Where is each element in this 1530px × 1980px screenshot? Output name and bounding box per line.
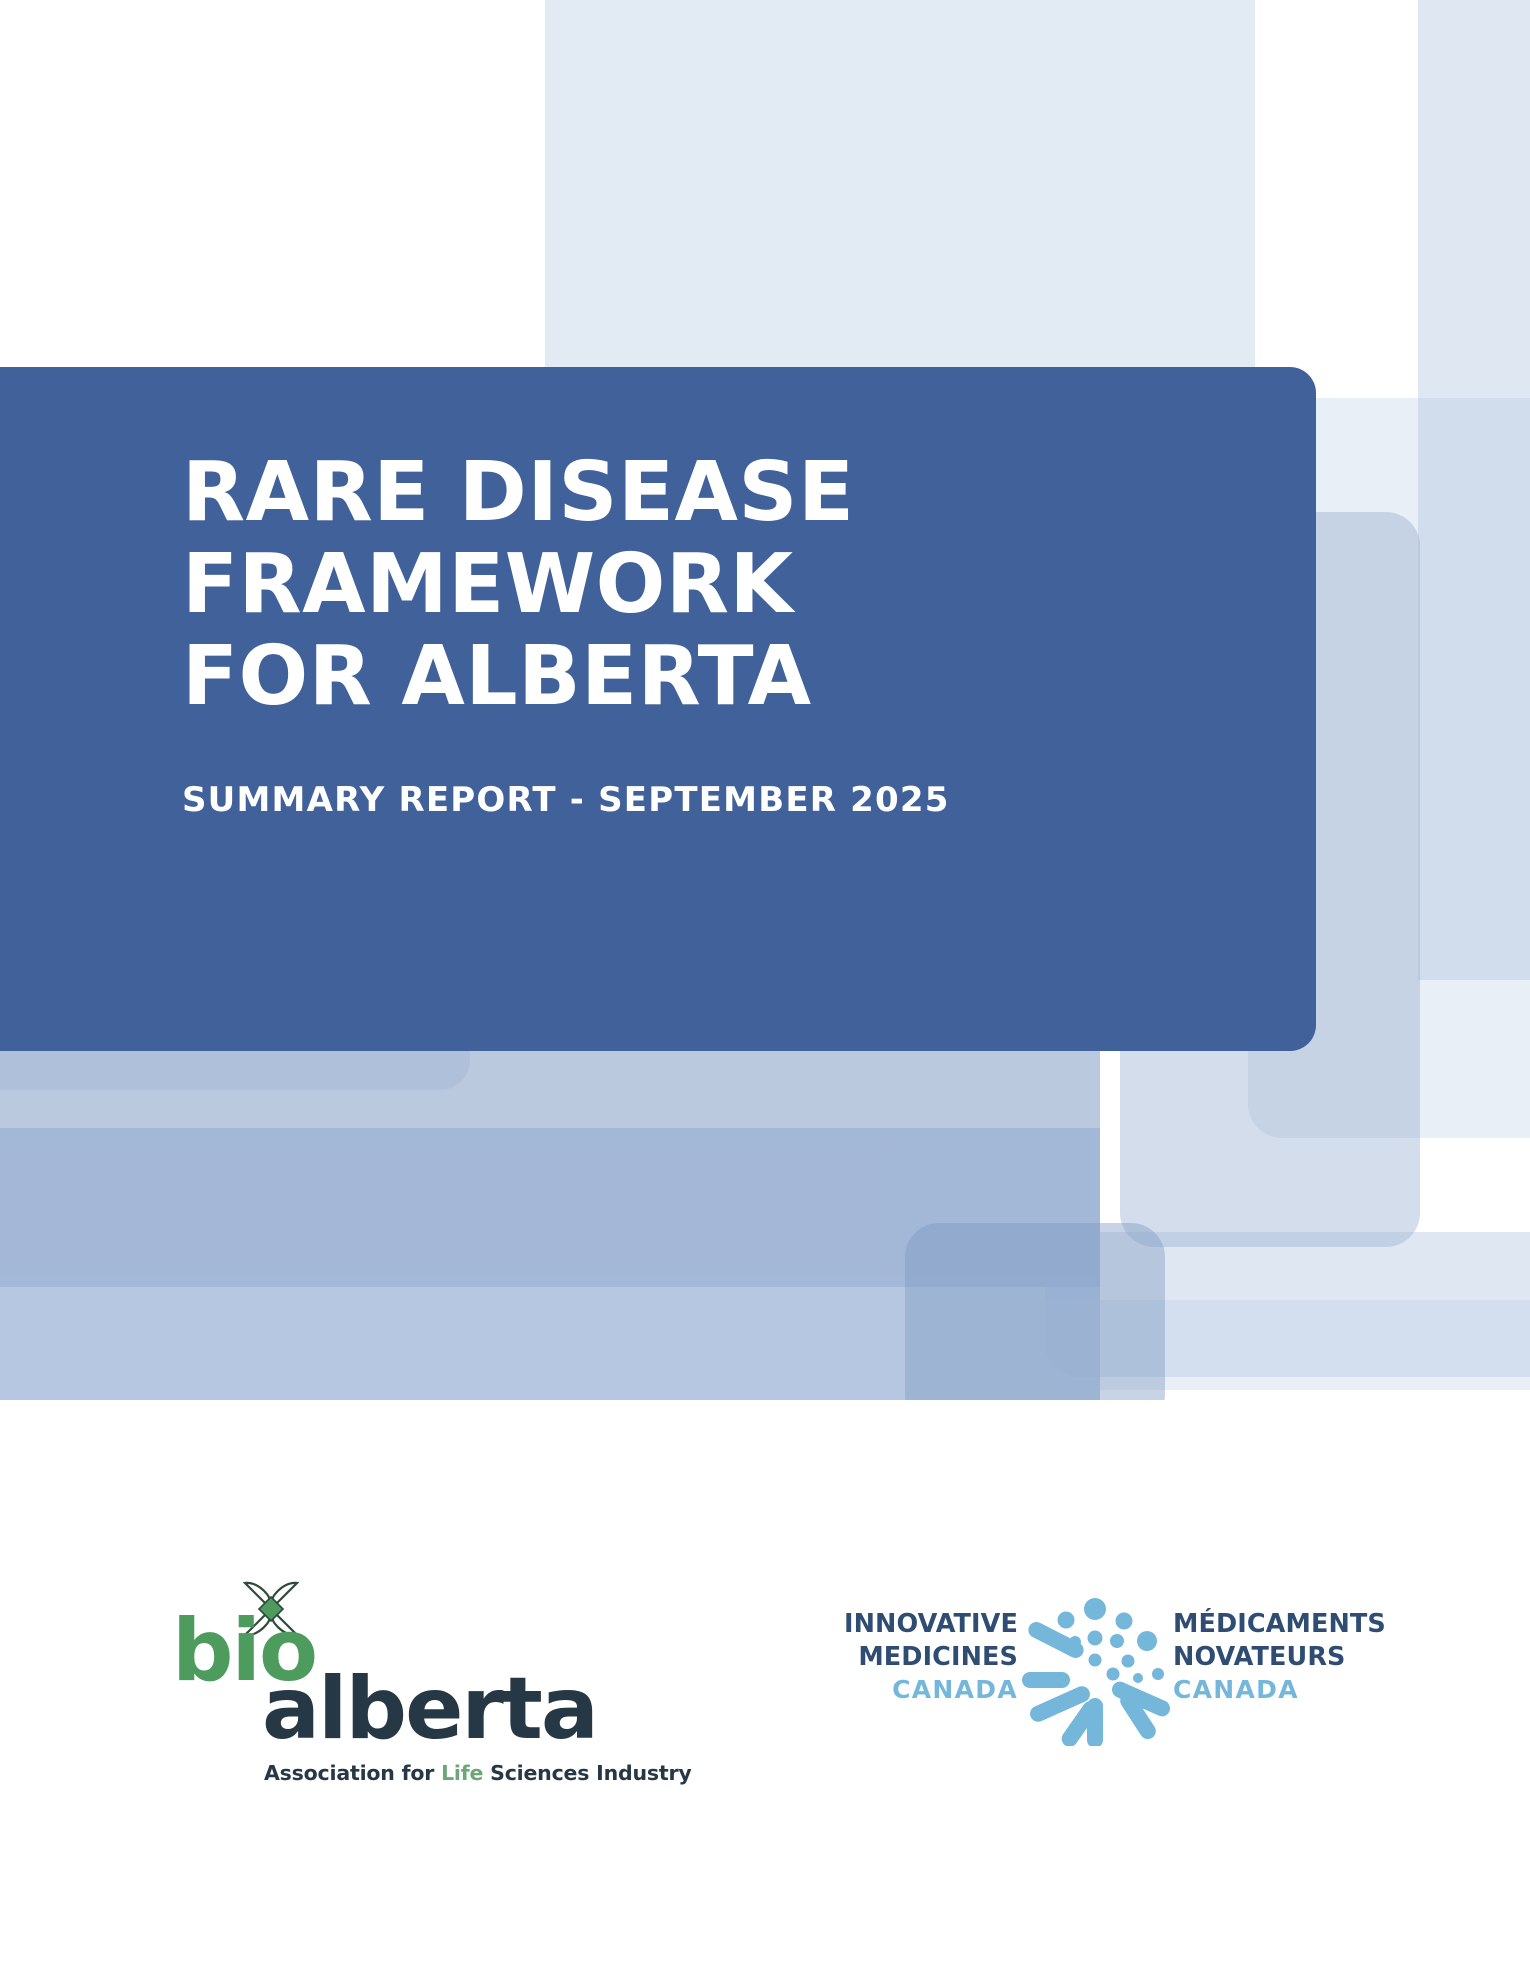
- tagline-suffix: Sciences Industry: [483, 1761, 691, 1785]
- imc-french-line-1: MÉDICAMENTS: [1173, 1608, 1373, 1641]
- imc-english-line-1: INNOVATIVE: [838, 1608, 1018, 1641]
- cover-title-block: RARE DISEASE FRAMEWORK FOR ALBERTA SUMMA…: [182, 447, 1212, 820]
- page-title-line-3: FOR ALBERTA: [182, 631, 1212, 723]
- imc-french-block: MÉDICAMENTS NOVATEURS CANADA: [1173, 1608, 1373, 1707]
- starburst-icon: [1020, 1586, 1170, 1746]
- logo-band: bio alberta Association for Life Science…: [0, 1560, 1530, 1840]
- bioalberta-tagline: Association for Life Sciences Industry: [264, 1761, 692, 1785]
- tagline-prefix: Association for: [264, 1761, 441, 1785]
- imc-english-country: CANADA: [838, 1674, 1018, 1707]
- tagline-accent: Life: [441, 1761, 483, 1785]
- imc-english-line-2: MEDICINES: [838, 1641, 1018, 1674]
- bioalberta-logo: bio alberta Association for Life Science…: [172, 1578, 632, 1798]
- innovative-medicines-canada-logo: INNOVATIVE MEDICINES CANADA: [838, 1608, 1368, 1768]
- imc-english-block: INNOVATIVE MEDICINES CANADA: [838, 1608, 1018, 1707]
- page-title-line-1: RARE DISEASE: [182, 447, 1212, 539]
- page-subtitle: SUMMARY REPORT - SEPTEMBER 2025: [182, 780, 1212, 820]
- cover-title-panel: RARE DISEASE FRAMEWORK FOR ALBERTA SUMMA…: [0, 367, 1316, 1051]
- imc-french-line-2: NOVATEURS: [1173, 1641, 1373, 1674]
- page-title-line-2: FRAMEWORK: [182, 539, 1212, 631]
- imc-french-country: CANADA: [1173, 1674, 1373, 1707]
- bioalberta-word-alberta: alberta: [262, 1666, 597, 1752]
- decor-shape-small-low: [905, 1223, 1165, 1400]
